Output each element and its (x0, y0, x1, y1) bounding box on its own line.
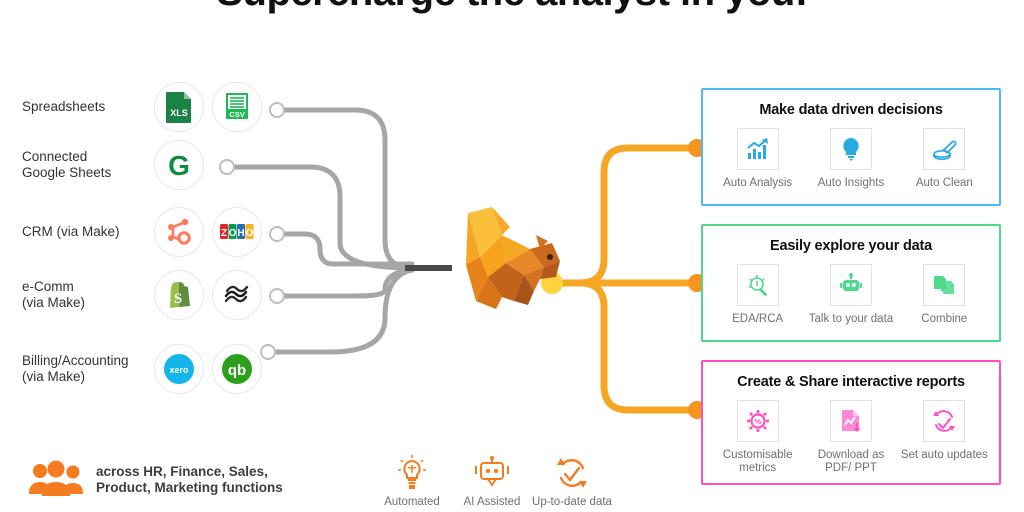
bar-chart-trend-icon (737, 128, 779, 170)
feature-up-to-date[interactable]: Up-to-date data (532, 455, 612, 508)
source-row-google-sheets[interactable]: Connected Google Sheets G (22, 140, 212, 190)
svg-text:XLS: XLS (170, 108, 188, 118)
svg-text:S: S (174, 291, 182, 307)
panel-item-caption: Auto Insights (818, 177, 884, 190)
panel-item-download-report[interactable]: Download as PDF/ PPT (805, 400, 897, 475)
magnifier-analysis-icon (737, 264, 779, 306)
svg-text:H: H (237, 228, 244, 239)
page-title: Supercharge the analyst in you! (0, 0, 1024, 15)
panel-item-caption: Customisable metrics (723, 449, 793, 475)
svg-text:%: % (755, 419, 762, 426)
xls-icon[interactable]: XLS (154, 82, 204, 132)
audience-block: across HR, Finance, Sales, Product, Mark… (28, 460, 283, 500)
panel-item-eda-rca[interactable]: EDA/RCA (712, 264, 804, 326)
panel-item-caption: Auto Analysis (723, 177, 792, 190)
svg-text:Z: Z (221, 228, 227, 239)
panel-item-auto-analysis[interactable]: Auto Analysis (712, 128, 804, 190)
features-strip: Automated AI Assisted (372, 455, 612, 508)
panel-title: Make data driven decisions (703, 102, 999, 118)
panel-item-caption: Set auto updates (901, 449, 988, 462)
svg-text:O: O (229, 228, 237, 239)
gear-metrics-icon: % (737, 400, 779, 442)
panel-title: Create & Share interactive reports (703, 374, 999, 390)
panel-title: Easily explore your data (703, 238, 999, 254)
hubspot-icon[interactable] (154, 207, 204, 257)
shopify-icon[interactable]: S (154, 270, 204, 320)
panel-explore[interactable]: Easily explore your data EDA/RCA (701, 224, 1001, 342)
svg-text:xero: xero (169, 365, 189, 375)
feature-caption: Up-to-date data (532, 496, 612, 508)
robot-head-icon (473, 455, 511, 491)
robot-chat-icon (830, 264, 872, 306)
source-row-billing[interactable]: Billing/Accounting (via Make) xero qb (22, 344, 270, 394)
panel-item-auto-clean[interactable]: Auto Clean (898, 128, 990, 190)
panel-decisions[interactable]: Make data driven decisions Auto Analysis (701, 88, 1001, 206)
panel-item-auto-updates[interactable]: Set auto updates (898, 400, 990, 462)
panel-item-caption: Combine (921, 313, 967, 326)
panel-items: % Customisable metrics Download as PDF/ … (703, 400, 999, 475)
source-row-crm[interactable]: CRM (via Make) Z O H (22, 207, 270, 257)
broom-clean-icon (923, 128, 965, 170)
panel-item-caption: EDA/RCA (732, 313, 783, 326)
squarespace-icon[interactable] (212, 270, 262, 320)
source-label: CRM (via Make) (22, 224, 154, 240)
svg-text:qb: qb (228, 362, 246, 379)
source-label: Spreadsheets (22, 99, 154, 115)
feature-caption: AI Assisted (464, 496, 521, 508)
panel-item-talk-to-data[interactable]: Talk to your data (805, 264, 897, 326)
csv-icon[interactable]: CSV (212, 82, 262, 132)
feature-ai-assisted[interactable]: AI Assisted (452, 455, 532, 508)
auto-refresh-check-icon (923, 400, 965, 442)
brain-bulb-icon (395, 455, 429, 491)
squirrel-mascot (440, 205, 570, 315)
panel-item-auto-insights[interactable]: Auto Insights (805, 128, 897, 190)
source-label: e-Comm (via Make) (22, 279, 154, 311)
svg-text:O: O (246, 228, 254, 239)
panel-item-caption: Download as PDF/ PPT (818, 449, 884, 475)
source-label: Connected Google Sheets (22, 149, 154, 181)
source-row-ecomm[interactable]: e-Comm (via Make) S (22, 270, 270, 320)
panel-items: Auto Analysis Auto Insights (703, 128, 999, 190)
audience-text: across HR, Finance, Sales, Product, Mark… (96, 464, 283, 496)
panel-item-caption: Auto Clean (916, 177, 973, 190)
lightbulb-icon (830, 128, 872, 170)
refresh-check-icon (554, 455, 590, 491)
people-group-icon (28, 460, 86, 500)
panel-item-caption: Talk to your data (809, 313, 893, 326)
zoho-icon[interactable]: Z O H O (212, 207, 262, 257)
feature-caption: Automated (384, 496, 440, 508)
source-label: Billing/Accounting (via Make) (22, 353, 154, 385)
quickbooks-icon[interactable]: qb (212, 344, 262, 394)
panel-item-combine[interactable]: Combine (898, 264, 990, 326)
panel-item-customisable-metrics[interactable]: % Customisable metrics (712, 400, 804, 475)
feature-automated[interactable]: Automated (372, 455, 452, 508)
panel-reports[interactable]: Create & Share interactive reports (701, 360, 1001, 485)
source-row-spreadsheets[interactable]: Spreadsheets XLS CSV (22, 82, 270, 132)
download-report-icon (830, 400, 872, 442)
panel-items: EDA/RCA Talk to your data (703, 264, 999, 326)
xero-icon[interactable]: xero (154, 344, 204, 394)
svg-text:CSV: CSV (229, 110, 244, 119)
google-sheets-icon[interactable]: G (154, 140, 204, 190)
infographic-canvas: Supercharge the analyst in you! (0, 0, 1024, 512)
combine-files-icon (923, 264, 965, 306)
svg-text:G: G (168, 150, 190, 181)
